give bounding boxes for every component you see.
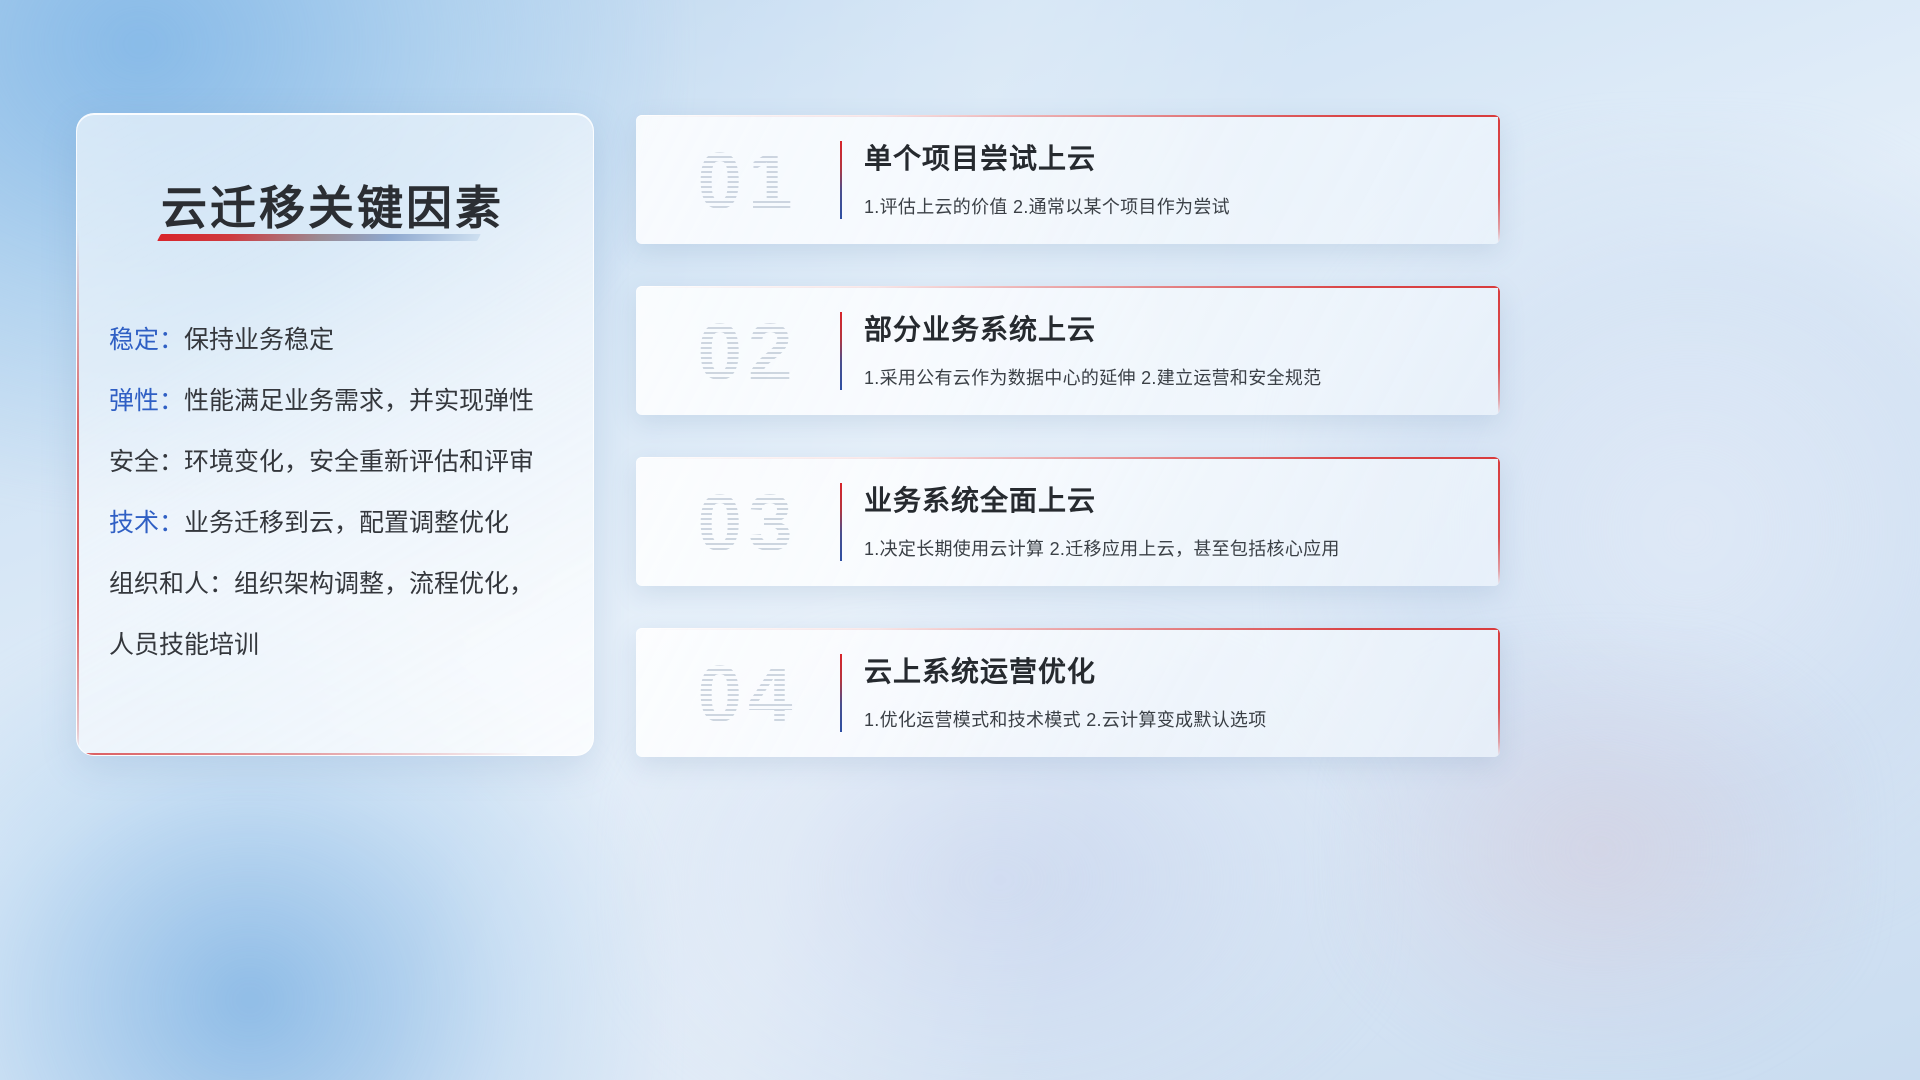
page-title: 云迁移关键因素 bbox=[161, 172, 504, 238]
factor-list: 稳定： 保持业务稳定 弹性： 性能满足业务需求，并实现弹性 安全： 环境变化，安… bbox=[109, 310, 573, 676]
card-right-accent bbox=[1498, 286, 1500, 415]
factor-label: 安全： bbox=[109, 432, 184, 493]
factor-text: 保持业务稳定 bbox=[184, 310, 334, 371]
step-divider bbox=[840, 312, 842, 390]
slide-stage: 云迁移关键因素 稳定： 保持业务稳定 弹性： 性能满足业务需求，并实现弹性 安全… bbox=[0, 0, 1920, 1080]
step-number: 03 bbox=[658, 473, 838, 573]
list-item: 弹性： 性能满足业务需求，并实现弹性 bbox=[109, 371, 573, 432]
card-top-accent bbox=[636, 115, 1500, 117]
step-title: 业务系统全面上云 bbox=[864, 479, 1096, 519]
factor-label: 组织和人： bbox=[109, 554, 234, 615]
step-card-01[interactable]: 01 单个项目尝试上云 1.评估上云的价值 2.通常以某个项目作为尝试 bbox=[636, 115, 1500, 244]
card-top-accent bbox=[636, 628, 1500, 630]
key-factors-panel: 云迁移关键因素 稳定： 保持业务稳定 弹性： 性能满足业务需求，并实现弹性 安全… bbox=[76, 113, 594, 756]
factor-text: 环境变化，安全重新评估和评审 bbox=[184, 432, 534, 493]
step-card-04[interactable]: 04 云上系统运营优化 1.优化运营模式和技术模式 2.云计算变成默认选项 bbox=[636, 628, 1500, 757]
list-item: 安全： 环境变化，安全重新评估和评审 bbox=[109, 432, 573, 493]
step-divider bbox=[840, 141, 842, 219]
factor-text: 组织架构调整，流程优化， bbox=[234, 554, 534, 615]
list-item: 稳定： 保持业务稳定 bbox=[109, 310, 573, 371]
card-right-accent bbox=[1498, 457, 1500, 586]
factor-label: 技术： bbox=[109, 493, 184, 554]
step-description: 1.采用公有云作为数据中心的延伸 2.建立运营和安全规范 bbox=[864, 364, 1321, 390]
title-underline-accent bbox=[157, 234, 481, 241]
factor-text: 业务迁移到云，配置调整优化 bbox=[184, 493, 509, 554]
step-number: 01 bbox=[658, 131, 838, 231]
step-description: 1.优化运营模式和技术模式 2.云计算变成默认选项 bbox=[864, 706, 1267, 732]
step-card-02[interactable]: 02 部分业务系统上云 1.采用公有云作为数据中心的延伸 2.建立运营和安全规范 bbox=[636, 286, 1500, 415]
list-item: 技术： 业务迁移到云，配置调整优化 bbox=[109, 493, 573, 554]
factor-label: 弹性： bbox=[109, 371, 184, 432]
step-divider bbox=[840, 654, 842, 732]
factor-text: 人员技能培训 bbox=[109, 615, 259, 676]
card-top-accent bbox=[636, 286, 1500, 288]
list-item: 组织和人： 组织架构调整，流程优化， bbox=[109, 554, 573, 615]
step-number: 04 bbox=[658, 644, 838, 744]
step-title: 单个项目尝试上云 bbox=[864, 137, 1096, 177]
step-divider bbox=[840, 483, 842, 561]
card-right-accent bbox=[1498, 628, 1500, 757]
factor-text: 性能满足业务需求，并实现弹性 bbox=[184, 371, 534, 432]
step-description: 1.评估上云的价值 2.通常以某个项目作为尝试 bbox=[864, 193, 1230, 219]
step-title: 部分业务系统上云 bbox=[864, 308, 1096, 348]
step-card-03[interactable]: 03 业务系统全面上云 1.决定长期使用云计算 2.迁移应用上云，甚至包括核心应… bbox=[636, 457, 1500, 586]
step-title: 云上系统运营优化 bbox=[864, 650, 1096, 690]
step-description: 1.决定长期使用云计算 2.迁移应用上云，甚至包括核心应用 bbox=[864, 535, 1340, 561]
card-top-accent bbox=[636, 457, 1500, 459]
factor-label: 稳定： bbox=[109, 310, 184, 371]
list-item: 人员技能培训 bbox=[109, 615, 573, 676]
step-number: 02 bbox=[658, 302, 838, 402]
card-right-accent bbox=[1498, 115, 1500, 244]
